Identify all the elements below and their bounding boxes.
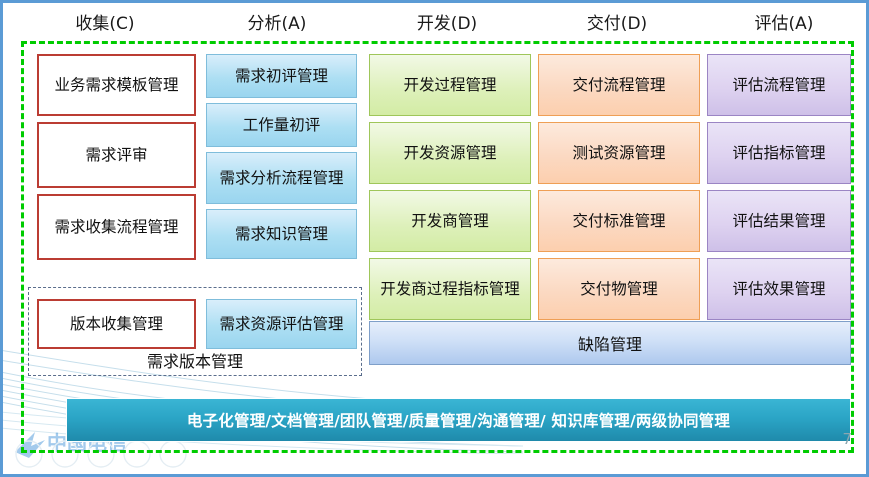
card-evaluate-2[interactable]: 评估结果管理 <box>707 190 851 252</box>
column-header-evaluate: 评估(A) <box>701 9 867 39</box>
card-evaluate-0[interactable]: 评估流程管理 <box>707 54 851 116</box>
column-header-develop: 开发(D) <box>361 9 533 39</box>
slide-canvas: 中国电信 收集(C) 分析(A) 开发(D) 交付(D) 评估(A) 需求版本管… <box>0 0 869 477</box>
column-headers: 收集(C) 分析(A) 开发(D) 交付(D) 评估(A) <box>17 9 858 39</box>
card-evaluate-1[interactable]: 评估指标管理 <box>707 122 851 184</box>
card-develop-3[interactable]: 开发商过程指标管理 <box>369 258 531 320</box>
card-collect-3[interactable]: 版本收集管理 <box>37 299 196 349</box>
column-header-collect: 收集(C) <box>17 9 193 39</box>
card-analyze-3[interactable]: 需求知识管理 <box>206 209 357 259</box>
version-management-group-label: 需求版本管理 <box>28 346 362 374</box>
card-analyze-2[interactable]: 需求分析流程管理 <box>206 152 357 204</box>
card-deliver-3[interactable]: 交付物管理 <box>538 258 700 320</box>
card-develop-2[interactable]: 开发商管理 <box>369 190 531 252</box>
card-deliver-0[interactable]: 交付流程管理 <box>538 54 700 116</box>
defect-management-bar[interactable]: 缺陷管理 <box>369 321 851 365</box>
column-header-deliver: 交付(D) <box>533 9 701 39</box>
card-develop-1[interactable]: 开发资源管理 <box>369 122 531 184</box>
column-header-analyze: 分析(A) <box>193 9 361 39</box>
card-evaluate-3[interactable]: 评估效果管理 <box>707 258 851 320</box>
card-deliver-1[interactable]: 测试资源管理 <box>538 122 700 184</box>
card-deliver-2[interactable]: 交付标准管理 <box>538 190 700 252</box>
card-develop-0[interactable]: 开发过程管理 <box>369 54 531 116</box>
card-collect-2[interactable]: 需求收集流程管理 <box>37 194 196 260</box>
card-analyze-0[interactable]: 需求初评管理 <box>206 54 357 98</box>
card-analyze-4[interactable]: 需求资源评估管理 <box>206 299 357 349</box>
page-number: 7 <box>842 430 852 448</box>
lifecycle-container: 需求版本管理 业务需求模板管理 需求评审 需求收集流程管理 版本收集管理 需求初… <box>21 41 854 453</box>
card-analyze-1[interactable]: 工作量初评 <box>206 103 357 147</box>
foundation-capabilities-bar: 电子化管理/文档管理/团队管理/质量管理/沟通管理/ 知识库管理/两级协同管理 <box>66 398 851 442</box>
card-collect-1[interactable]: 需求评审 <box>37 122 196 188</box>
card-collect-0[interactable]: 业务需求模板管理 <box>37 54 196 116</box>
